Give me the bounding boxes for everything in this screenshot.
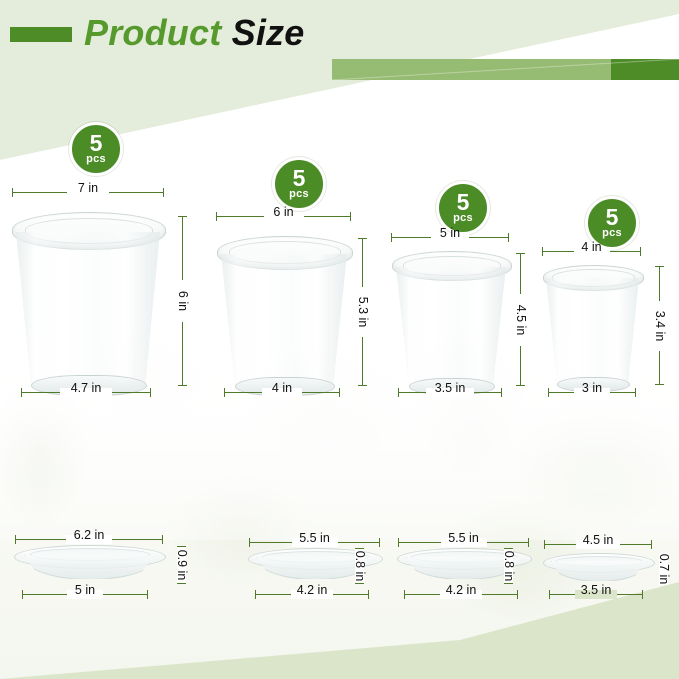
badge-pot-4-count: 5: [606, 206, 619, 229]
pot-1-bottom-width-label: 4.7 in: [66, 380, 107, 396]
saucer-4-top-width-dimension: 4.5 in: [544, 540, 652, 549]
pot-4-bottom-width-label: 3 in: [577, 380, 607, 396]
title-dash-icon: [10, 27, 72, 42]
saucer-3-top-width-label: 5.5 in: [443, 530, 484, 546]
saucer-3-bottom-width-dimension: 4.2 in: [404, 590, 518, 599]
badge-pot-1-count: 5: [90, 132, 103, 155]
pot-3-bottom-width-dimension: 3.5 in: [398, 388, 502, 397]
pot-4-body: [543, 278, 644, 385]
title-word-product: Product: [84, 12, 221, 53]
pot-1-top-width-label: 7 in: [73, 180, 103, 196]
pot-4-height-dimension: 3.4 in: [655, 266, 664, 385]
badge-pot-1: 5 pcs: [69, 122, 123, 176]
pot-3-height-label: 4.5 in: [513, 304, 529, 335]
pot-4-bottom-width-dimension: 3 in: [548, 388, 636, 397]
saucer-3-top-width-dimension: 5.5 in: [398, 538, 529, 547]
pot-4: [543, 265, 642, 385]
page-title: Product Size: [84, 12, 304, 54]
saucer-4-height-label: 0.7 in: [656, 554, 672, 585]
pot-3-height-dimension: 4.5 in: [516, 253, 525, 386]
pot-2-bottom-width-label: 4 in: [267, 380, 297, 396]
saucer-4-skirt-wrap: [543, 561, 653, 583]
badge-pot-2-unit: pcs: [289, 189, 309, 200]
saucer-1-skirt: [24, 555, 156, 580]
pot-3-body: [392, 267, 512, 387]
pot-2-top-width-label: 6 in: [268, 204, 298, 220]
saucer-2-top-width-dimension: 5.5 in: [249, 538, 380, 547]
saucer-1-bottom-width-label: 5 in: [70, 582, 100, 598]
saucer-2-height-label: 0.8 in: [352, 551, 368, 582]
pot-3-top-width-label: 5 in: [435, 225, 465, 241]
pot-3-bottom-width-label: 3.5 in: [430, 380, 471, 396]
pot-2-top-width-dimension: 6 in: [216, 212, 351, 221]
pot-1-body: [12, 232, 166, 387]
pot-1: [12, 212, 164, 390]
saucer-3-height-dimension: 0.8 in: [504, 548, 513, 584]
saucer-3-height-label: 0.8 in: [501, 551, 517, 582]
pot-4-height-label: 3.4 in: [652, 310, 668, 341]
saucer-1-skirt-wrap: [14, 555, 164, 581]
title-word-size: Size: [232, 12, 305, 53]
pot-2-body: [217, 254, 353, 388]
saucer-1-top-width-dimension: 6.2 in: [15, 535, 163, 544]
saucer-2-bottom-width-dimension: 4.2 in: [255, 590, 369, 599]
saucer-2-bottom-width-label: 4.2 in: [292, 582, 333, 598]
saucer-3-bottom-width-label: 4.2 in: [441, 582, 482, 598]
pot-1-height-dimension: 6 in: [178, 216, 187, 386]
pot-2-height-label: 5.3 in: [355, 297, 371, 328]
saucer-4-height-dimension: 0.7 in: [659, 553, 668, 585]
badge-pot-3-count: 5: [457, 191, 470, 214]
pot-4-top-width-dimension: 4 in: [542, 247, 641, 256]
pot-3: [392, 251, 510, 387]
pot-2-bottom-width-dimension: 4 in: [224, 388, 340, 397]
saucer-1-bottom-width-dimension: 5 in: [22, 590, 148, 599]
saucer-1-height-label: 0.9 in: [174, 550, 190, 581]
pot-1-height-label: 6 in: [175, 291, 191, 311]
badge-pot-3-unit: pcs: [453, 213, 473, 224]
badge-pot-4-unit: pcs: [602, 228, 622, 239]
header-accent-bar-dark: [611, 59, 679, 80]
badge-pot-2-count: 5: [293, 167, 306, 190]
pot-1-top-width-dimension: 7 in: [12, 188, 164, 197]
saucer-4-top-width-label: 4.5 in: [578, 532, 619, 548]
pot-2-height-dimension: 5.3 in: [358, 238, 367, 386]
pot-2: [217, 236, 351, 388]
saucer-4-bottom-width-dimension: 3.5 in: [549, 590, 643, 599]
saucer-4-skirt: [551, 561, 647, 582]
badge-pot-1-unit: pcs: [86, 154, 106, 165]
saucer-1-height-dimension: 0.9 in: [177, 546, 186, 584]
saucer-2-height-dimension: 0.8 in: [355, 548, 364, 584]
pot-4-top-width-label: 4 in: [576, 239, 606, 255]
pot-1-bottom-width-dimension: 4.7 in: [21, 388, 151, 397]
product-size-infographic: Product Size 5 pcs 7 in 4.7 in 6 in: [0, 0, 679, 679]
pot-3-top-width-dimension: 5 in: [391, 233, 509, 242]
saucer-4-bottom-width-label: 3.5 in: [576, 582, 617, 598]
saucer-2-top-width-label: 5.5 in: [294, 530, 335, 546]
badge-pot-2: 5 pcs: [272, 157, 326, 211]
saucer-1-top-width-label: 6.2 in: [69, 527, 110, 543]
